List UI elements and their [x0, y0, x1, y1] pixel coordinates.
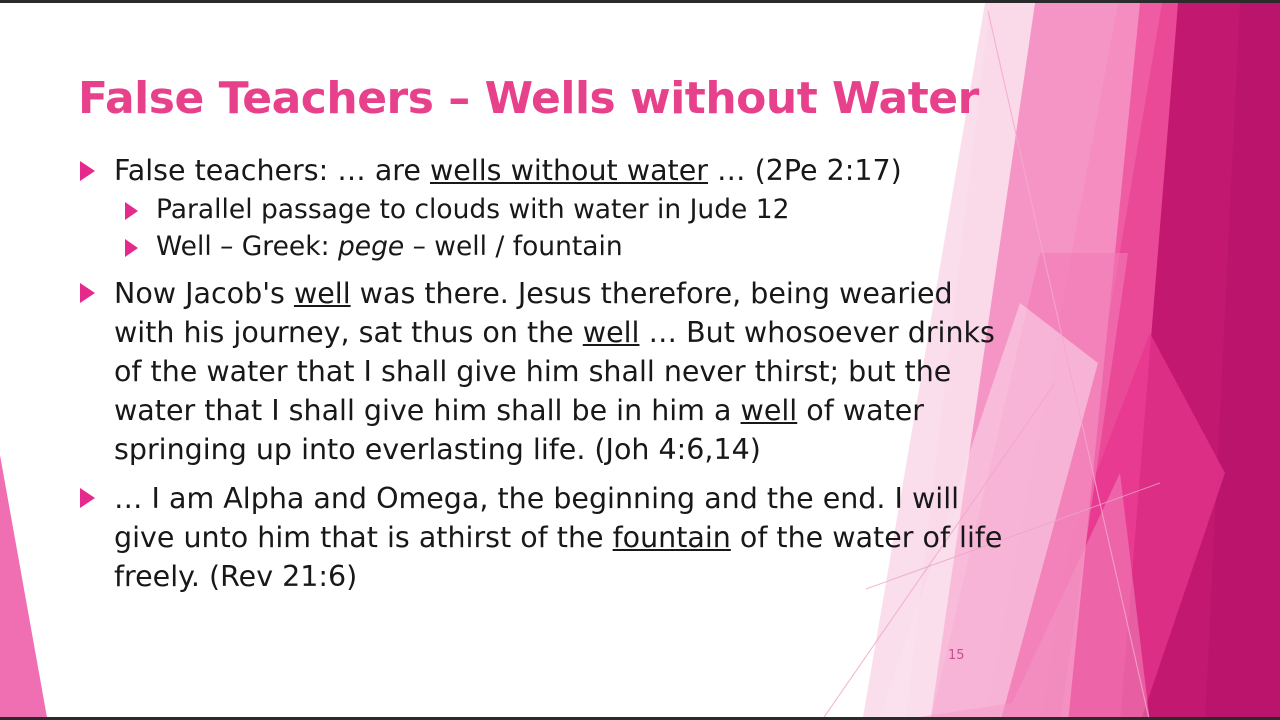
presentation-slide: False Teachers – Wells without Water Fal… — [0, 0, 1280, 720]
bullet-triangle-icon — [125, 239, 138, 257]
bullet-text-segment: well — [583, 316, 640, 349]
deco-shape-bottom-left-triangle — [0, 455, 48, 720]
bullet-text-segment: fountain — [613, 521, 731, 554]
bullet-text-segment: – well / fountain — [404, 231, 623, 262]
deco-shape-mid-pink-band-2 — [1000, 333, 1225, 720]
bullet-text-segment: … (2Pe 2:17) — [708, 154, 902, 187]
deco-shape-mid-pink-band — [985, 3, 1178, 720]
deco-shape-right-dark-magenta-2 — [1205, 3, 1280, 720]
bullet-false-teachers-verse: False teachers: … are wells without wate… — [76, 151, 1006, 190]
bullet-john-4-passage: Now Jacob's well was there. Jesus theref… — [76, 274, 1006, 469]
bullet-triangle-icon — [80, 283, 95, 303]
bullet-text-segment: well — [294, 277, 351, 310]
deco-hairline-diagonal-1 — [988, 11, 1150, 720]
bullet-triangle-icon — [80, 161, 95, 181]
bullet-parallel-passage: Parallel passage to clouds with water in… — [76, 192, 1006, 228]
bullet-text-segment: well — [741, 394, 798, 427]
bullet-triangle-icon — [80, 488, 95, 508]
bullet-text-segment: Parallel passage to clouds with water in… — [156, 194, 790, 225]
bullet-triangle-icon — [125, 202, 138, 220]
slide-title: False Teachers – Wells without Water — [78, 73, 979, 124]
bullet-text-segment: Now Jacob's — [114, 277, 294, 310]
slide-page-number: 15 — [948, 648, 965, 663]
deco-shape-right-dark-magenta — [1040, 3, 1280, 720]
bullet-text-segment: pege — [338, 231, 404, 262]
slide-body: False teachers: … are wells without wate… — [76, 151, 1006, 606]
bullet-rev-21-passage: … I am Alpha and Omega, the beginning an… — [76, 479, 1006, 596]
bullet-text-segment: Well – Greek: — [156, 231, 338, 262]
bullet-well-greek: Well – Greek: pege – well / fountain — [76, 229, 1006, 265]
bullet-text-segment: False teachers: … are — [114, 154, 430, 187]
bullet-text-segment: wells without water — [430, 154, 708, 187]
